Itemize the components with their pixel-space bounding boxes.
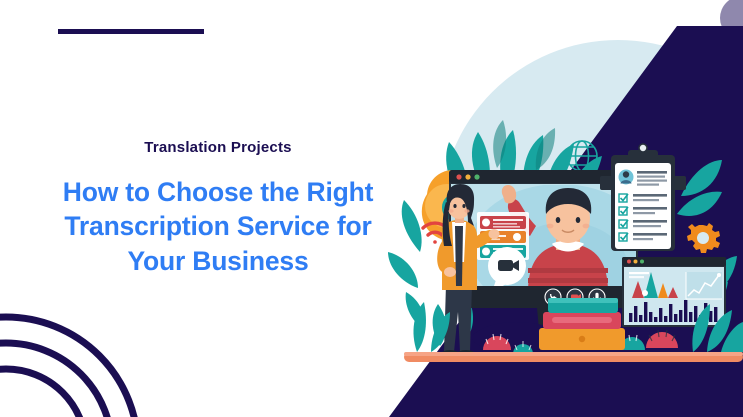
- headline-line-1: How to Choose the Right: [63, 177, 373, 207]
- page-title: How to Choose the Right Transcription Se…: [30, 175, 406, 280]
- eyebrow-label: Translation Projects: [30, 140, 406, 157]
- headline-block: Translation Projects How to Choose the R…: [30, 140, 406, 279]
- shelf: [404, 352, 743, 362]
- divider-rule: [58, 29, 204, 34]
- headline-line-2: Transcription Service for: [64, 211, 371, 241]
- headline-line-3: Your Business: [128, 246, 309, 276]
- text-column: Translation Projects How to Choose the R…: [0, 0, 400, 417]
- stacked-books: [539, 298, 625, 350]
- analytics-dashboard: [622, 257, 726, 327]
- clipboard-checklist: [600, 144, 686, 251]
- blog-banner: Translation Projects How to Choose the R…: [0, 0, 743, 417]
